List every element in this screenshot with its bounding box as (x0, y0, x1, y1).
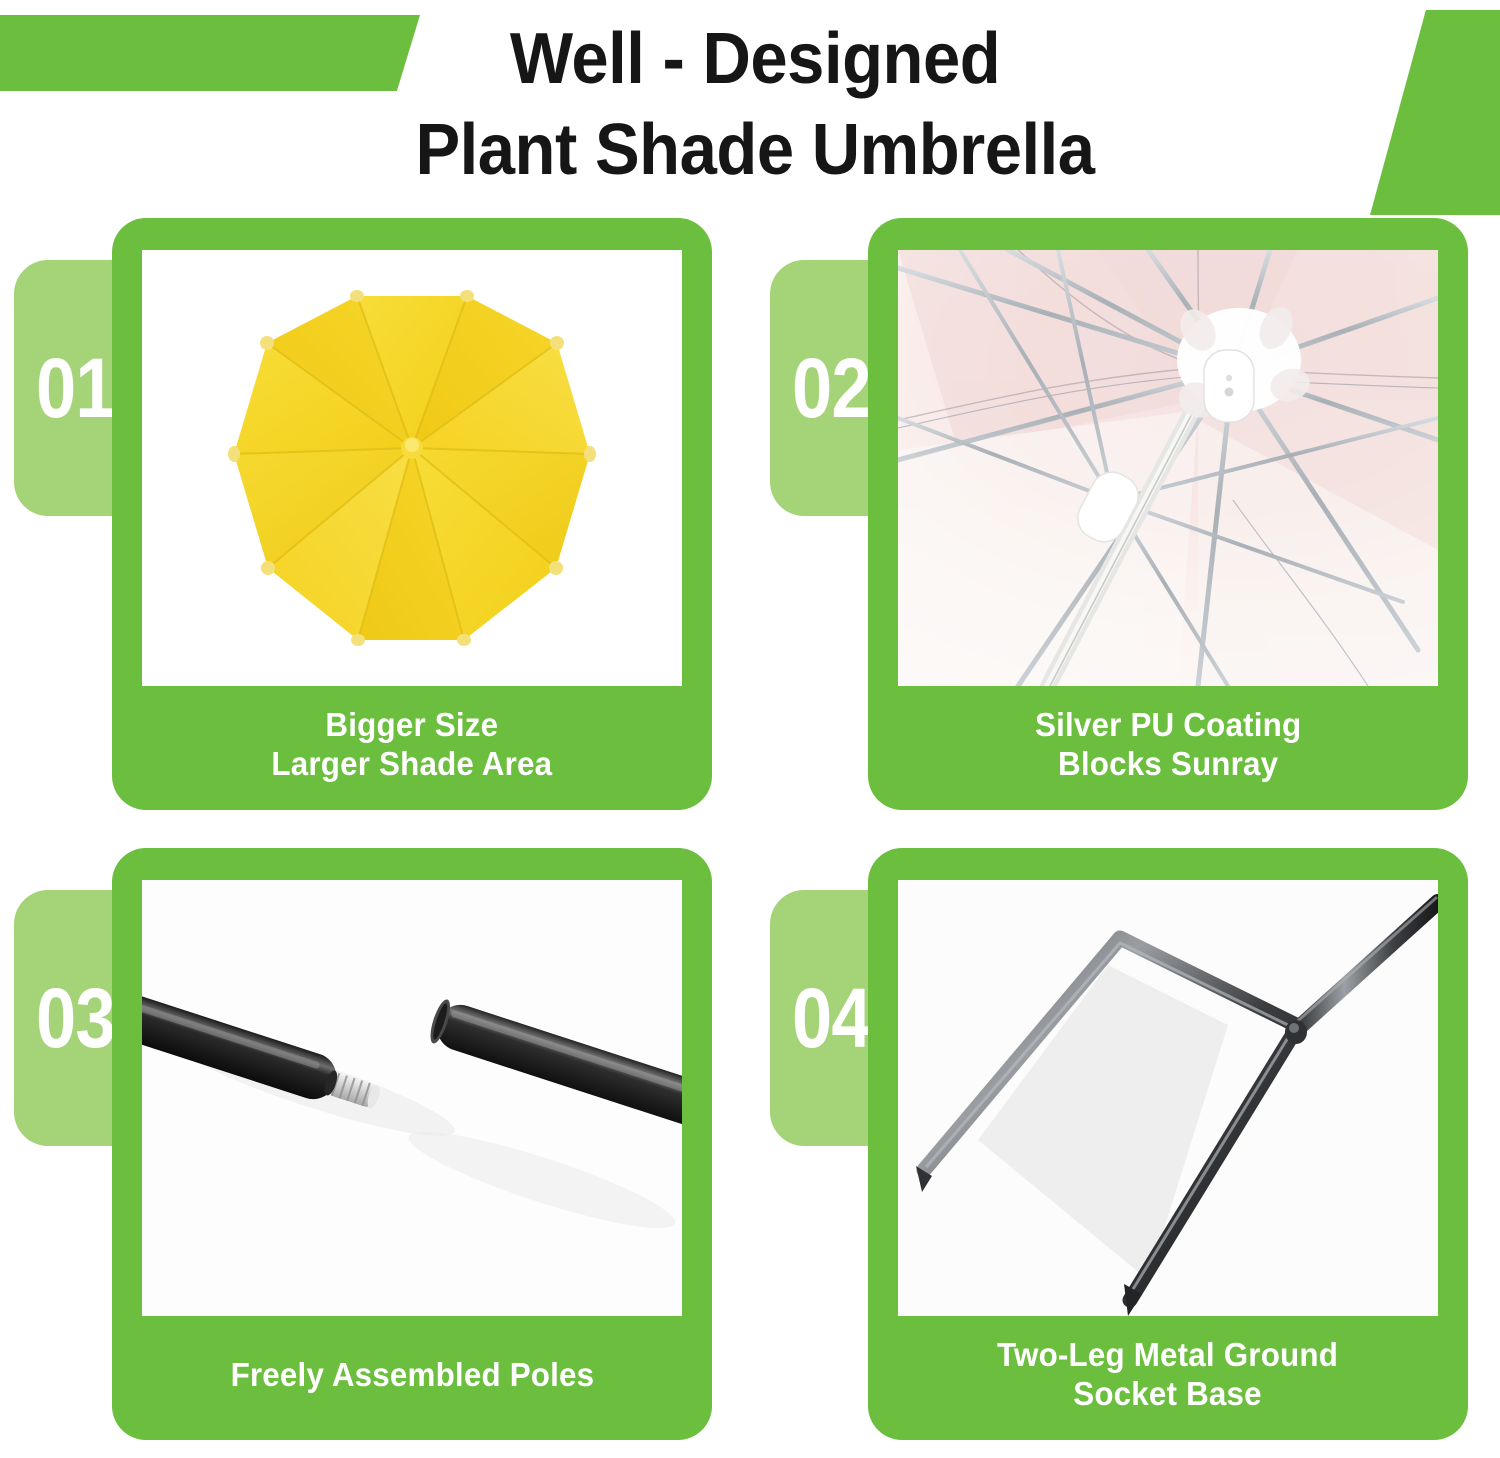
feature-caption-03-line-1: Freely Assembled Poles (230, 1356, 594, 1395)
feature-number-03: 03 (36, 976, 115, 1060)
feature-caption-02: Silver PU Coating Blocks Sunray (898, 686, 1438, 810)
feature-caption-02-line-2: Blocks Sunray (1035, 745, 1301, 784)
green-accent-shape-right (1370, 10, 1500, 215)
feature-photo-02 (898, 250, 1438, 686)
assembled-poles-image (142, 880, 682, 1316)
feature-card-grid: 01 (0, 212, 1500, 1458)
ground-socket-base-image (898, 880, 1438, 1316)
feature-card-body-03: Freely Assembled Poles (112, 848, 712, 1440)
feature-photo-03 (142, 880, 682, 1316)
feature-card-03: 03 (8, 842, 736, 1454)
feature-card-body-02: Silver PU Coating Blocks Sunray (868, 218, 1468, 810)
feature-photo-01 (142, 250, 682, 686)
feature-caption-04-line-2: Socket Base (997, 1375, 1338, 1414)
feature-card-02: 02 (764, 212, 1492, 824)
feature-card-01: 01 (8, 212, 736, 824)
feature-caption-04-line-1: Two-Leg Metal Ground (997, 1336, 1338, 1375)
umbrella-underside-image (898, 250, 1438, 686)
feature-card-04: 04 (764, 842, 1492, 1454)
feature-card-body-04: Two-Leg Metal Ground Socket Base (868, 848, 1468, 1440)
page-title-line-2: Plant Shade Umbrella (285, 105, 1224, 196)
yellow-umbrella-image (212, 268, 612, 668)
feature-caption-01: Bigger Size Larger Shade Area (142, 686, 682, 810)
feature-caption-01-line-2: Larger Shade Area (272, 745, 553, 784)
feature-caption-02-line-1: Silver PU Coating (1035, 706, 1301, 745)
feature-caption-03: Freely Assembled Poles (142, 1316, 682, 1440)
feature-number-04: 04 (792, 976, 871, 1060)
feature-caption-04: Two-Leg Metal Ground Socket Base (898, 1316, 1438, 1440)
page-header: Well - Designed Plant Shade Umbrella (0, 0, 1500, 210)
feature-card-body-01: Bigger Size Larger Shade Area (112, 218, 712, 810)
page-title-line-1: Well - Designed (285, 14, 1224, 105)
feature-photo-04 (898, 880, 1438, 1316)
page-title: Well - Designed Plant Shade Umbrella (250, 14, 1260, 195)
feature-number-02: 02 (792, 346, 871, 430)
feature-number-01: 01 (36, 346, 115, 430)
feature-caption-01-line-1: Bigger Size (272, 706, 553, 745)
